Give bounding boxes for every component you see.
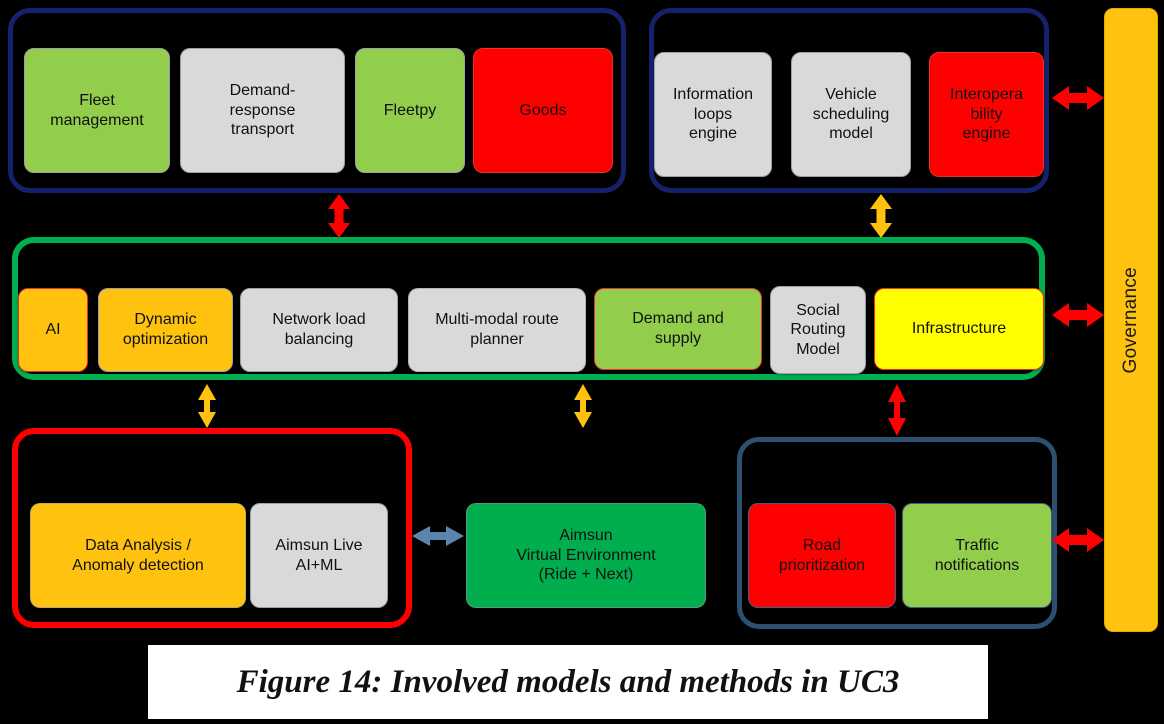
node-vehicle-scheduling-model[interactable]: Vehicle scheduling model (791, 52, 911, 177)
arrow-models-to-analytics (193, 384, 221, 428)
figure-caption-text: Figure 14: Involved models and methods i… (237, 664, 900, 701)
figure-caption: Figure 14: Involved models and methods i… (148, 645, 988, 719)
node-demand-and-supply[interactable]: Demand and supply (594, 288, 762, 370)
node-dynamic-optimization[interactable]: Dynamic optimization (98, 288, 233, 372)
arrow-engines-to-governance (1052, 83, 1104, 113)
node-network-load-balancing[interactable]: Network load balancing (240, 288, 398, 372)
node-infrastructure[interactable]: Infrastructure (874, 288, 1044, 370)
node-aimsun-live-ai-ml[interactable]: Aimsun Live AI+ML (250, 503, 388, 608)
node-social-routing-model[interactable]: Social Routing Model (770, 286, 866, 374)
arrow-traffic-to-governance (1052, 525, 1104, 555)
arrow-mobility-to-models (324, 194, 354, 238)
node-traffic-notifications[interactable]: Traffic notifications (902, 503, 1052, 608)
node-interoperability-engine[interactable]: Interopera bility engine (929, 52, 1044, 177)
governance-label: Governance (1120, 267, 1142, 374)
node-aimsun-virtual-environment[interactable]: Aimsun Virtual Environment (Ride + Next) (466, 503, 706, 608)
arrow-analytics-to-simulation (412, 522, 464, 550)
node-information-loops-engine[interactable]: Information loops engine (654, 52, 772, 177)
node-demand-response-transport[interactable]: Demand- response transport (180, 48, 345, 173)
arrow-models-to-governance (1052, 300, 1104, 330)
governance-bar[interactable]: Governance (1104, 8, 1158, 632)
node-fleet-management[interactable]: Fleet management (24, 48, 170, 173)
node-fleetpy[interactable]: Fleetpy (355, 48, 465, 173)
node-data-analysis-anomaly-detection[interactable]: Data Analysis / Anomaly detection (30, 503, 246, 608)
node-multi-modal-route-planner[interactable]: Multi-modal route planner (408, 288, 586, 372)
node-road-prioritization[interactable]: Road prioritization (748, 503, 896, 608)
figure-canvas: Fleet management Demand- response transp… (0, 0, 1164, 724)
node-goods[interactable]: Goods (473, 48, 613, 173)
arrow-models-to-simulation (569, 384, 597, 428)
node-ai[interactable]: AI (18, 288, 88, 372)
arrow-engines-to-models (866, 194, 896, 238)
arrow-models-to-traffic (883, 384, 911, 436)
